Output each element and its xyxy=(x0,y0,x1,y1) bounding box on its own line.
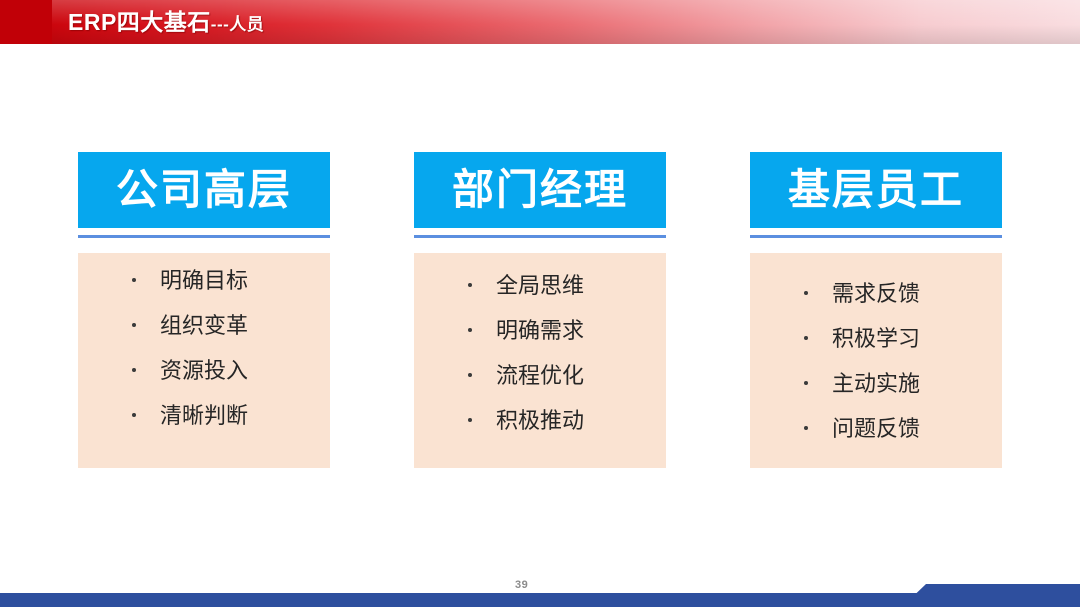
bullet-dot-icon xyxy=(468,283,472,287)
slide-title-sub: ---人员 xyxy=(211,15,264,34)
bullet-dot-icon xyxy=(132,278,136,282)
list-item-label: 组织变革 xyxy=(160,313,248,338)
bullet-dot-icon xyxy=(804,336,808,340)
list-item: 需求反馈 xyxy=(804,280,1002,307)
bullet-dot-icon xyxy=(468,373,472,377)
list-item-label: 资源投入 xyxy=(160,358,248,383)
page-number: 39 xyxy=(515,579,528,591)
list-item-label: 明确目标 xyxy=(160,268,248,293)
list-item-label: 需求反馈 xyxy=(832,281,920,306)
card-title-rule-1 xyxy=(414,235,666,238)
list-item: 清晰判断 xyxy=(132,402,330,429)
card-body-1: 全局思维 明确需求 流程优化 积极推动 xyxy=(414,253,666,468)
list-item: 明确需求 xyxy=(468,317,666,344)
bullet-dot-icon xyxy=(804,291,808,295)
list-item-label: 明确需求 xyxy=(496,318,584,343)
card-columns: 公司高层 明确目标 组织变革 资源投入 xyxy=(0,0,1080,607)
list-item-label: 问题反馈 xyxy=(832,416,920,441)
list-item-label: 主动实施 xyxy=(832,371,920,396)
slide: ERP四大基石---人员 公司高层 明确目标 组织变革 xyxy=(0,0,1080,607)
list-item-label: 流程优化 xyxy=(496,363,584,388)
card-title-2: 基层员工 xyxy=(750,152,1002,228)
list-item: 积极推动 xyxy=(468,407,666,434)
bullet-dot-icon xyxy=(132,413,136,417)
footer-bar xyxy=(0,593,1080,607)
bullet-dot-icon xyxy=(468,418,472,422)
bullet-dot-icon xyxy=(132,368,136,372)
card-department-managers: 部门经理 全局思维 明确需求 流程优化 xyxy=(414,152,666,468)
bullet-dot-icon xyxy=(804,381,808,385)
card-body-0: 明确目标 组织变革 资源投入 清晰判断 xyxy=(78,253,330,468)
card-title-rule-2 xyxy=(750,235,1002,238)
list-item-label: 清晰判断 xyxy=(160,403,248,428)
list-item-label: 全局思维 xyxy=(496,273,584,298)
bullet-list-0: 明确目标 组织变革 资源投入 清晰判断 xyxy=(78,267,330,429)
list-item: 主动实施 xyxy=(804,370,1002,397)
list-item-label: 积极学习 xyxy=(832,326,920,351)
card-frontline-staff: 基层员工 需求反馈 积极学习 主动实施 xyxy=(750,152,1002,468)
list-item: 组织变革 xyxy=(132,312,330,339)
list-item: 问题反馈 xyxy=(804,415,1002,442)
list-item: 流程优化 xyxy=(468,362,666,389)
slide-title-main: ERP四大基石 xyxy=(68,9,211,35)
bullet-dot-icon xyxy=(468,328,472,332)
bullet-dot-icon xyxy=(804,426,808,430)
card-company-executives: 公司高层 明确目标 组织变革 资源投入 xyxy=(78,152,330,468)
card-body-2: 需求反馈 积极学习 主动实施 问题反馈 xyxy=(750,253,1002,468)
list-item: 资源投入 xyxy=(132,357,330,384)
bullet-list-2: 需求反馈 积极学习 主动实施 问题反馈 xyxy=(750,280,1002,442)
card-title-1: 部门经理 xyxy=(414,152,666,228)
list-item: 全局思维 xyxy=(468,272,666,299)
card-title-0: 公司高层 xyxy=(78,152,330,228)
slide-title: ERP四大基石---人员 xyxy=(68,6,264,38)
list-item-label: 积极推动 xyxy=(496,408,584,433)
bullet-dot-icon xyxy=(132,323,136,327)
card-title-rule-0 xyxy=(78,235,330,238)
bullet-list-1: 全局思维 明确需求 流程优化 积极推动 xyxy=(414,272,666,434)
list-item: 明确目标 xyxy=(132,267,330,294)
list-item: 积极学习 xyxy=(804,325,1002,352)
